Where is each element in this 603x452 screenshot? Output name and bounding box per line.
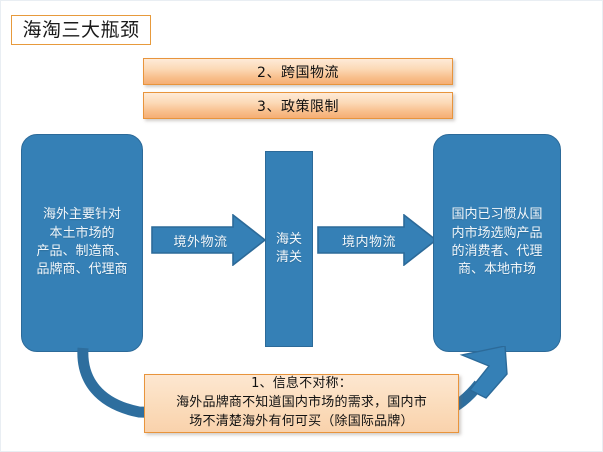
page-title-box: 海淘三大瓶颈 [11,15,151,45]
node-overseas-supply-label: 海外主要针对 本土市场的 产品、制造商、 品牌商、代理商 [28,206,135,280]
node-domestic-demand: 国内已习惯从国 内市场选购产品 的消费者、代理 商、本地市场 [433,134,561,352]
page-title: 海淘三大瓶颈 [22,21,139,40]
callout-information-asymmetry: 1、信息不对称： 海外品牌商不知道国内市场的需求，国内市 场不清楚海外有何可买（… [144,374,459,433]
callout-information-asymmetry-text: 1、信息不对称： 海外品牌商不知道国内市场的需求，国内市 场不清楚海外有何可买（… [176,375,427,432]
bottleneck-bar-3-label: 3、政策限制 [257,96,339,116]
diagram-canvas: 海淘三大瓶颈 2、跨国物流 3、政策限制 海外主要针对 本土市场的 产品、制造商… [0,0,603,452]
bottleneck-bar-2: 2、跨国物流 [143,58,453,85]
arrow-inbound-logistics: 境内物流 [317,214,437,266]
arrow-outbound-logistics: 境外物流 [151,214,266,266]
node-customs-clearance-label: 海关 清关 [274,231,304,268]
node-overseas-supply: 海外主要针对 本土市场的 产品、制造商、 品牌商、代理商 [21,134,143,352]
node-domestic-demand-label: 国内已习惯从国 内市场选购产品 的消费者、代理 商、本地市场 [443,206,550,280]
bottleneck-bar-3: 3、政策限制 [143,92,453,119]
arrow-inbound-logistics-label: 境内物流 [342,231,412,250]
bottleneck-bar-2-label: 2、跨国物流 [257,62,339,82]
node-customs-clearance: 海关 清关 [265,151,313,347]
arrow-outbound-logistics-label: 境外物流 [173,231,243,250]
